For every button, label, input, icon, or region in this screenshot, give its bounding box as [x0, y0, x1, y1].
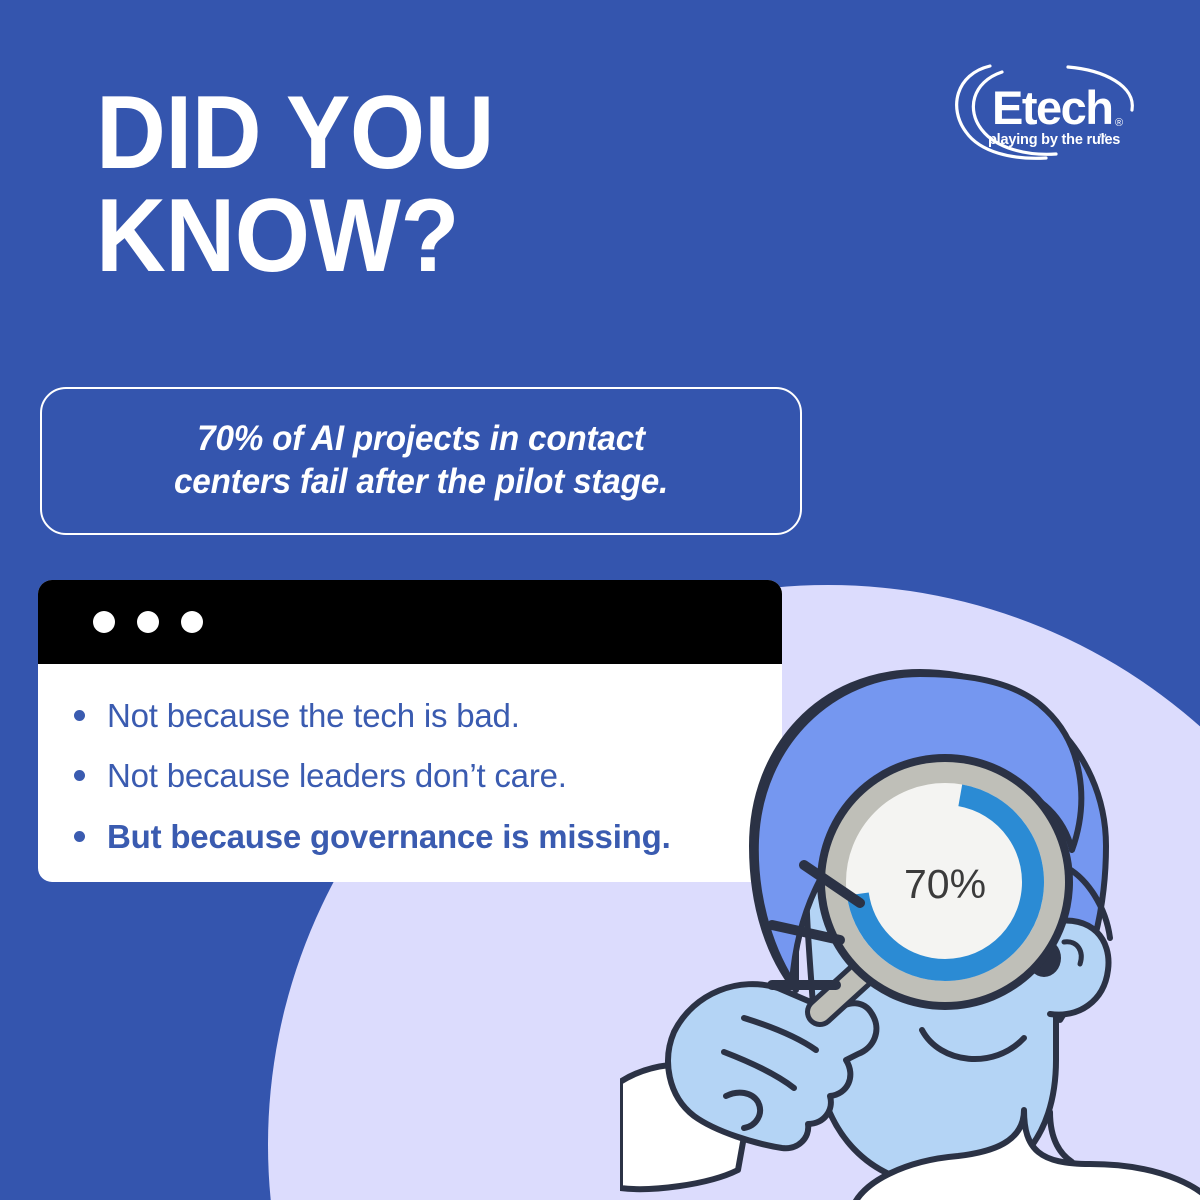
- poster-canvas: Etech ® playing by the rules ™ DID YOU K…: [0, 0, 1200, 1200]
- stat-line-2: centers fail after the pilot stage.: [174, 461, 668, 504]
- bullet-dot-icon: [74, 831, 85, 842]
- headline-line-2: KNOW?: [96, 185, 747, 288]
- bullet-dot-icon: [74, 710, 85, 721]
- bullet-dot-icon: [74, 770, 85, 781]
- magnifying-glass-person-illustration: 70%: [620, 640, 1200, 1200]
- stat-callout-box: 70% of AI projects in contact centers fa…: [40, 387, 802, 535]
- window-dot-close-icon[interactable]: [93, 611, 115, 633]
- etech-logo: Etech ® playing by the rules ™: [950, 62, 1140, 160]
- list-item-label: Not because leaders don’t care.: [107, 758, 567, 794]
- window-dot-minimize-icon[interactable]: [137, 611, 159, 633]
- list-item-label: But because governance is missing.: [107, 819, 671, 855]
- stat-callout-text: 70% of AI projects in contact centers fa…: [159, 418, 683, 503]
- trademark-mark-icon: ™: [1098, 132, 1107, 142]
- window-dot-maximize-icon[interactable]: [181, 611, 203, 633]
- list-item-label: Not because the tech is bad.: [107, 698, 520, 734]
- etech-wordmark: Etech ®: [992, 81, 1123, 134]
- headline-line-1: DID YOU: [96, 82, 747, 185]
- registered-mark-icon: ®: [1115, 117, 1123, 129]
- page-title: DID YOU KNOW?: [96, 82, 747, 288]
- stat-line-1: 70% of AI projects in contact: [174, 418, 668, 461]
- donut-value-label: 70%: [904, 861, 986, 907]
- logo-text: Etech: [992, 81, 1113, 134]
